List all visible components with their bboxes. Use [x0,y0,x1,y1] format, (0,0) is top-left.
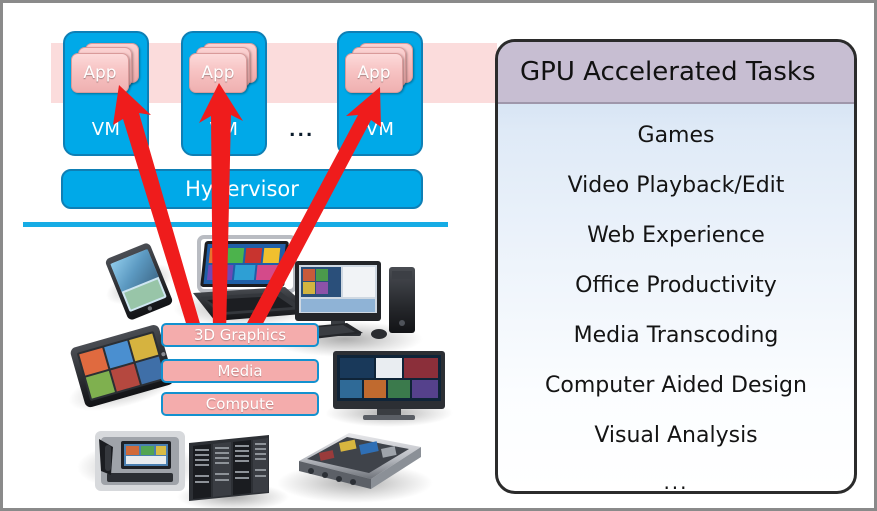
gpu-task-item: Computer Aided Design [498,360,854,410]
feature-bar-media[interactable]: Media [161,359,319,383]
feature-bar-compute[interactable]: Compute [161,392,319,416]
gpu-task-item: Games [498,110,854,160]
gpu-task-item: Media Transcoding [498,310,854,360]
device-car-infotainment [77,431,201,491]
diagram-canvas: VM App VM App ... VM App Hypervisor [0,0,877,511]
device-server-rack [177,435,289,511]
gpu-task-list: Games Video Playback/Edit Web Experience… [498,104,854,494]
feature-bar-3d-graphics[interactable]: 3D Graphics [161,323,319,347]
device-convertible-laptop [173,237,315,327]
device-rack-server-1u [277,433,433,503]
gpu-task-item: Office Productivity [498,260,854,310]
device-television [325,351,453,427]
gpu-task-item: Video Playback/Edit [498,160,854,210]
gpu-accelerated-tasks-panel: GPU Accelerated Tasks Games Video Playba… [495,39,857,494]
device-tablet-small [93,237,184,325]
gpu-panel-header: GPU Accelerated Tasks [498,42,854,104]
gpu-task-item-more: ... [498,460,854,494]
gpu-task-item: Web Experience [498,210,854,260]
gpu-task-item: Visual Analysis [498,410,854,460]
